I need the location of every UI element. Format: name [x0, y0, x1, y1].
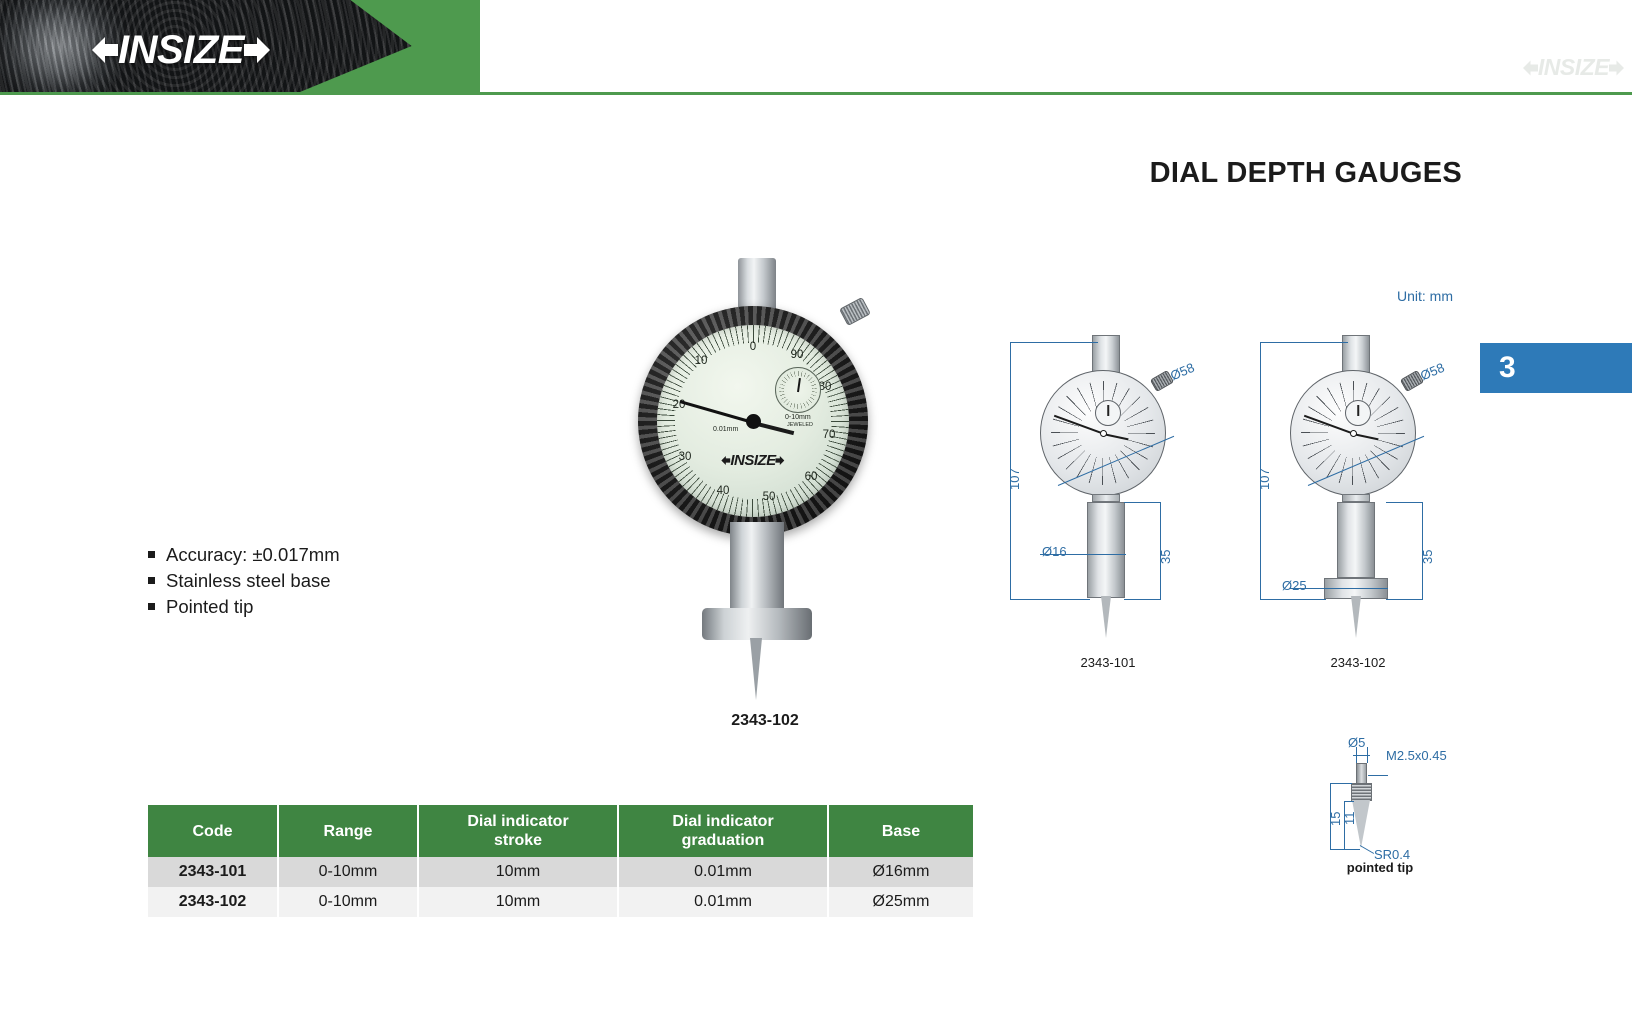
drawing-hub — [1350, 430, 1357, 437]
drawing-subdial — [1095, 400, 1121, 426]
dim-ext-base-top — [1124, 502, 1160, 503]
drawing-neck — [1342, 494, 1370, 502]
dim-label-dial-dia: Ø58 — [1418, 360, 1446, 383]
dim-label-thread: M2.5x0.45 — [1386, 748, 1447, 763]
dim-ext-bottom — [1260, 599, 1326, 600]
dim-ext-base-top — [1386, 502, 1422, 503]
drawing-subdial — [1345, 400, 1371, 426]
subdial-hand — [797, 378, 801, 392]
feature-label: Accuracy: ±0.017mm — [166, 543, 340, 567]
header-line-2: stroke — [494, 832, 542, 849]
page-title: DIAL DEPTH GAUGES — [1150, 157, 1462, 190]
dial-graduation-label: 0.01mm — [713, 426, 738, 433]
dim-line-cone-length — [1344, 801, 1345, 849]
gauge-base-flange — [702, 608, 812, 640]
dim-label-height: 107 — [1257, 468, 1272, 490]
dim-ext-top — [1260, 342, 1348, 343]
right-arrow-icon — [1609, 59, 1624, 77]
cell-stroke: 10mm — [418, 887, 618, 917]
dim-label-height: 107 — [1007, 468, 1022, 490]
drawing-pointed-tip — [1101, 596, 1111, 638]
drawing-caption: 2343-102 — [1298, 655, 1418, 670]
dial-hub — [746, 414, 761, 429]
header-line-1: Dial indicator — [672, 813, 773, 830]
dim-ext-bottom — [1010, 599, 1090, 600]
cell-range: 0-10mm — [278, 857, 418, 887]
left-arrow-icon — [721, 455, 730, 466]
dim-label-shank-dia: Ø5 — [1348, 735, 1365, 750]
technical-drawing-2343-101: 107 Ø58 Ø16 35 2343-101 — [1000, 330, 1215, 680]
cell-graduation: 0.01mm — [618, 887, 828, 917]
dim-label-dial-dia: Ø58 — [1168, 360, 1196, 383]
column-header-base: Base — [828, 805, 973, 857]
dim-ext-base-bottom — [1386, 599, 1422, 600]
product-photo-2343-102: 0 10 20 30 40 50 60 70 80 90 0.01mm 0-10… — [630, 250, 900, 690]
dial-brand-wordmark: INSIZE — [730, 453, 775, 468]
tip-detail-caption: pointed tip — [1300, 860, 1460, 875]
table-row: 2343-101 0-10mm 10mm 0.01mm Ø16mm — [148, 857, 973, 887]
dial-number: 70 — [823, 429, 836, 441]
table-header-row: Code Range Dial indicator stroke Dial in… — [148, 805, 973, 857]
drawing-caption: 2343-101 — [1048, 655, 1168, 670]
unit-note: Unit: mm — [1397, 288, 1453, 304]
drawing-hub — [1100, 430, 1107, 437]
column-header-graduation: Dial indicator graduation — [618, 805, 828, 857]
bezel-clamp-knob — [839, 297, 871, 326]
tip-shank — [1356, 763, 1367, 785]
specifications-table: Code Range Dial indicator stroke Dial in… — [148, 805, 973, 917]
dial-number: 40 — [717, 485, 730, 497]
gauge-dial-face: 0 10 20 30 40 50 60 70 80 90 0.01mm 0-10… — [657, 325, 849, 517]
dial-number: 60 — [805, 471, 818, 483]
right-arrow-icon — [244, 35, 270, 65]
dial-number: 30 — [679, 451, 692, 463]
product-photo-caption: 2343-102 — [630, 712, 900, 730]
dim-ext-cone-bottom — [1344, 849, 1360, 850]
cell-code: 2343-101 — [148, 857, 278, 887]
revolution-counter-subdial — [775, 367, 821, 413]
cell-base: Ø16mm — [828, 857, 973, 887]
dim-label-cone-length: 11 — [1342, 812, 1357, 826]
table-row: 2343-102 0-10mm 10mm 0.01mm Ø25mm — [148, 887, 973, 917]
column-header-range: Range — [278, 805, 418, 857]
drawing-neck — [1092, 494, 1120, 502]
dial-number: 50 — [763, 491, 776, 503]
dim-ext-shank-r — [1367, 747, 1368, 763]
cell-code: 2343-102 — [148, 887, 278, 917]
header-line-1: Dial indicator — [467, 813, 568, 830]
dial-jeweled-label: JEWELED — [787, 422, 813, 428]
cell-base: Ø25mm — [828, 887, 973, 917]
dial-number: 10 — [695, 355, 708, 367]
feature-list: Accuracy: ±0.017mm Stainless steel base … — [148, 543, 340, 621]
header-divider-rule — [0, 92, 1632, 95]
dial-number: 90 — [791, 349, 804, 361]
list-item: Accuracy: ±0.017mm — [148, 543, 340, 567]
feature-label: Pointed tip — [166, 595, 253, 619]
drawing-pointed-tip — [1351, 596, 1361, 638]
page-header: INSIZE INSIZE — [0, 0, 1632, 95]
dim-label-base-height: 35 — [1158, 550, 1173, 564]
header-line-2: graduation — [682, 832, 765, 849]
pointed-tip-detail-drawing: Ø5 M2.5x0.45 15 11 SR0.4 pointed tip — [1300, 715, 1490, 890]
dim-ext-base-bottom — [1124, 599, 1160, 600]
dim-ext-top — [1010, 342, 1098, 343]
cell-graduation: 0.01mm — [618, 857, 828, 887]
insize-watermark-wordmark: INSIZE — [1538, 56, 1609, 79]
drawing-base-body — [1087, 502, 1125, 598]
dim-label-total-length: 15 — [1328, 812, 1343, 826]
left-arrow-icon — [1523, 59, 1538, 77]
square-bullet-icon — [148, 551, 155, 558]
square-bullet-icon — [148, 577, 155, 584]
leader-line-thread — [1368, 775, 1388, 776]
column-header-stroke: Dial indicator stroke — [418, 805, 618, 857]
right-arrow-icon — [776, 455, 785, 466]
drawing-base-body — [1337, 502, 1375, 578]
left-arrow-icon — [92, 35, 118, 65]
dial-insize-logo: INSIZE — [721, 453, 784, 468]
column-header-code: Code — [148, 805, 278, 857]
pointed-tip — [750, 638, 762, 700]
technical-drawing-2343-102: 107 Ø58 Ø25 35 2343-102 — [1250, 330, 1465, 680]
dial-number: 0 — [750, 341, 756, 353]
feature-label: Stainless steel base — [166, 569, 331, 593]
dim-label-base-dia: Ø25 — [1282, 578, 1307, 593]
cell-stroke: 10mm — [418, 857, 618, 887]
dim-label-base-height: 35 — [1420, 550, 1435, 564]
dim-ext-cone-top — [1344, 801, 1354, 802]
insize-logo: INSIZE — [92, 30, 270, 70]
dial-range-label: 0-10mm — [785, 414, 811, 421]
insize-wordmark: INSIZE — [118, 30, 244, 70]
list-item: Stainless steel base — [148, 569, 340, 593]
dim-ext-total-top — [1330, 783, 1352, 784]
insize-watermark-logo: INSIZE — [1523, 56, 1624, 79]
list-item: Pointed tip — [148, 595, 340, 619]
tip-thread — [1351, 783, 1372, 801]
square-bullet-icon — [148, 603, 155, 610]
cell-range: 0-10mm — [278, 887, 418, 917]
page-number-badge: 3 — [1480, 343, 1632, 393]
dim-label-base-dia: Ø16 — [1042, 544, 1067, 559]
